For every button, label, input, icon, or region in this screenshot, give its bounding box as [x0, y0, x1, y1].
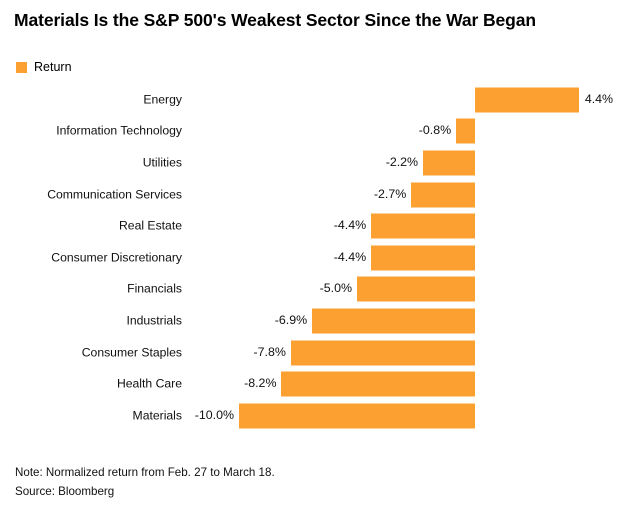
- bar-value-label: 4.4%: [585, 93, 613, 107]
- bar-value-label: -2.7%: [0, 188, 406, 202]
- legend: Return: [16, 61, 72, 74]
- bar-value-label: -7.8%: [0, 346, 286, 360]
- bar: [423, 150, 475, 175]
- category-label: Energy: [0, 93, 182, 106]
- bar: [411, 182, 475, 207]
- bar: [371, 214, 475, 239]
- bar-row: Materials-10.0%: [0, 400, 639, 432]
- footer-notes: Note: Normalized return from Feb. 27 to …: [15, 464, 275, 502]
- bar-row: Information Technology-0.8%: [0, 116, 639, 148]
- bar-value-label: -0.8%: [0, 125, 451, 139]
- chart-container: Materials Is the S&P 500's Weakest Secto…: [0, 0, 639, 513]
- page-title: Materials Is the S&P 500's Weakest Secto…: [14, 9, 614, 32]
- plot-area: Energy4.4%Information Technology-0.8%Uti…: [0, 84, 639, 450]
- bar-row: Utilities-2.2%: [0, 147, 639, 179]
- bar: [281, 372, 475, 397]
- bar-row: Industrials-6.9%: [0, 305, 639, 337]
- bar-value-label: -6.9%: [0, 314, 307, 328]
- bar: [239, 403, 475, 428]
- bar-value-label: -8.2%: [0, 377, 276, 391]
- bar-row: Communication Services-2.7%: [0, 179, 639, 211]
- footer-note: Note: Normalized return from Feb. 27 to …: [15, 464, 275, 483]
- bar-value-label: -4.4%: [0, 219, 366, 233]
- bar-row: Consumer Staples-7.8%: [0, 337, 639, 369]
- bar-row: Health Care-8.2%: [0, 368, 639, 400]
- bar: [357, 277, 475, 302]
- bar-value-label: -4.4%: [0, 251, 366, 265]
- bar-row: Consumer Discretionary-4.4%: [0, 242, 639, 274]
- bar-row: Real Estate-4.4%: [0, 210, 639, 242]
- bar-value-label: -5.0%: [0, 283, 352, 297]
- bar: [371, 245, 475, 270]
- bar: [312, 308, 475, 333]
- bar-value-label: -2.2%: [0, 156, 418, 170]
- bar: [475, 87, 579, 112]
- bar-row: Financials-5.0%: [0, 274, 639, 306]
- footer-source: Source: Bloomberg: [15, 483, 275, 502]
- bar-value-label: -10.0%: [0, 409, 234, 423]
- bar: [291, 340, 475, 365]
- bar-row: Energy4.4%: [0, 84, 639, 116]
- legend-item-label: Return: [34, 61, 72, 74]
- bar: [456, 119, 475, 144]
- legend-color-swatch-icon: [16, 62, 27, 73]
